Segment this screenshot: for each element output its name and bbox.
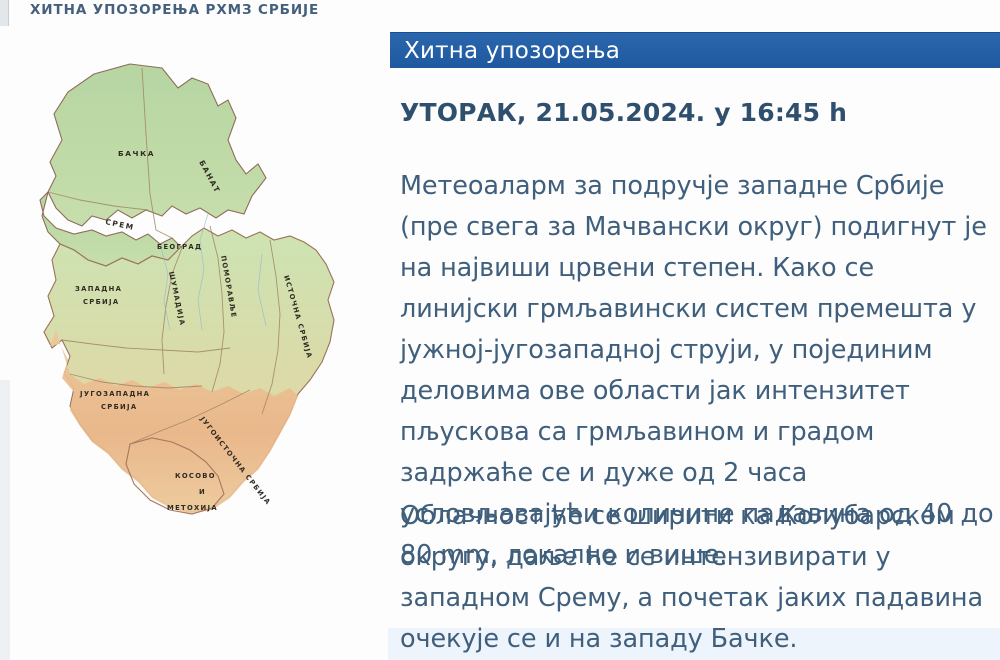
map-region-north xyxy=(48,64,266,226)
left-edge-panel xyxy=(0,0,9,26)
map-label-kosovo: КОСОВО xyxy=(175,472,216,480)
serbia-regions-map: БАЧКА БАНАТ СРЕМ БЕОГРАД ЗАПАДНА СРБИЈА … xyxy=(22,44,374,516)
alert-title-bar: Хитна упозорења xyxy=(390,32,1000,68)
alert-title-label: Хитна упозорења xyxy=(404,37,620,65)
alert-datestamp: УТОРАК, 21.05.2024. у 16:45 h xyxy=(400,97,847,129)
map-label-backa: БАЧКА xyxy=(118,149,155,158)
left-lower-panel xyxy=(0,380,10,660)
alert-paragraph-2: Облачност ће се ширити ка Колубарском ок… xyxy=(400,496,1000,660)
map-label-i: И xyxy=(199,488,206,496)
map-label-metohija: МЕТОХИЈА xyxy=(167,504,218,512)
map-label-zapadna: ЗАПАДНА xyxy=(75,285,122,293)
map-label-zapadna-srbija: СРБИЈА xyxy=(83,298,119,306)
map-label-beograd: БЕОГРАД xyxy=(157,243,202,251)
map-svg: БАЧКА БАНАТ СРЕМ БЕОГРАД ЗАПАДНА СРБИЈА … xyxy=(22,44,374,516)
alert-panel: Хитна упозорења УТОРАК, 21.05.2024. у 16… xyxy=(388,0,1000,660)
map-label-srem: СРЕМ xyxy=(105,217,136,232)
page-root: ХИТНА УПОЗОРЕЊА РХМЗ СРБИЈЕ xyxy=(0,0,1000,660)
map-label-jugozapadna-srbija: СРБИЈА xyxy=(101,403,137,411)
map-label-jugozapadna: ЈУГОЗАПАДНА xyxy=(79,390,150,398)
